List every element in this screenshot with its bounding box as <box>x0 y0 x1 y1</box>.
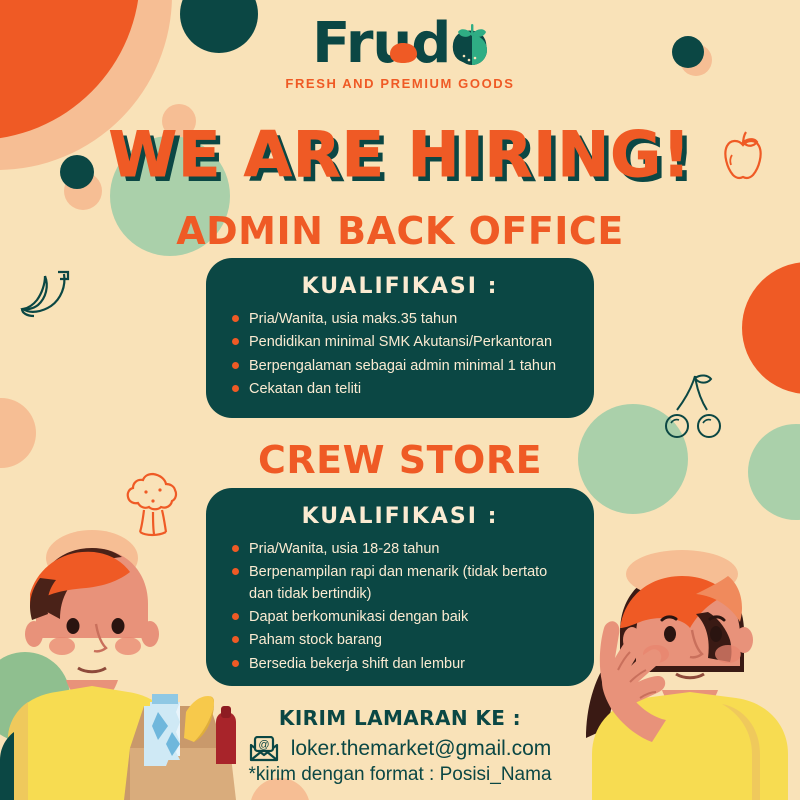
footer-email[interactable]: loker.themarket@gmail.com <box>291 737 552 761</box>
list-item: Bersedia bekerja shift dan lembur <box>232 654 568 675</box>
brand-name-wrapper: Frudo <box>312 16 488 72</box>
orange-circle-right <box>742 262 800 394</box>
brand-tagline: FRESH AND PREMIUM GOODS <box>0 76 800 91</box>
footer-note: *kirim dengan format : Posisi_Nama <box>0 764 800 786</box>
qualifications-box-admin: KUALIFIKASI : Pria/Wanita, usia maks.35 … <box>206 258 594 418</box>
list-item: Pendidikan minimal SMK Akutansi/Perkanto… <box>232 332 568 353</box>
qualifications-heading-crew: KUALIFIKASI : <box>232 504 568 529</box>
lime-leaf-icon <box>450 22 494 68</box>
footer-contact: KIRIM LAMARAN KE : @ loker.themarket@gma… <box>0 706 800 786</box>
job-title-crew-store: CREW STORE <box>0 438 800 482</box>
orange-splash-icon <box>388 42 418 64</box>
banana-outline-icon <box>18 268 76 324</box>
list-item: Berpengalaman sebagai admin minimal 1 ta… <box>232 356 568 377</box>
cherry-outline-icon <box>664 368 730 448</box>
footer-email-row: @ loker.themarket@gmail.com <box>0 736 800 762</box>
list-item: Paham stock barang <box>232 630 568 651</box>
page-title: WE ARE HIRING! <box>0 118 800 191</box>
job-poster: Frudo FRESH AND PREMIUM GOODS WE ARE HIR… <box>0 0 800 800</box>
qualifications-list-crew: Pria/Wanita, usia 18-28 tahun Berpenampi… <box>232 539 568 675</box>
list-item: Cekatan dan teliti <box>232 379 568 400</box>
footer-title: KIRIM LAMARAN KE : <box>0 706 800 730</box>
list-item: Dapat berkomunikasi dengan baik <box>232 607 568 628</box>
list-item: Pria/Wanita, usia 18-28 tahun <box>232 539 568 560</box>
qualifications-box-crew: KUALIFIKASI : Pria/Wanita, usia 18-28 ta… <box>206 488 594 686</box>
qualifications-heading-admin: KUALIFIKASI : <box>232 274 568 299</box>
job-title-admin-back-office: ADMIN BACK OFFICE <box>0 209 800 253</box>
brand-logo: Frudo FRESH AND PREMIUM GOODS <box>0 16 800 91</box>
envelope-at-icon: @ <box>249 736 279 762</box>
list-item: Berpenampilan rapi dan menarik (tidak be… <box>232 562 568 605</box>
svg-text:@: @ <box>258 739 269 751</box>
qualifications-list-admin: Pria/Wanita, usia maks.35 tahun Pendidik… <box>232 309 568 400</box>
list-item: Pria/Wanita, usia maks.35 tahun <box>232 309 568 330</box>
